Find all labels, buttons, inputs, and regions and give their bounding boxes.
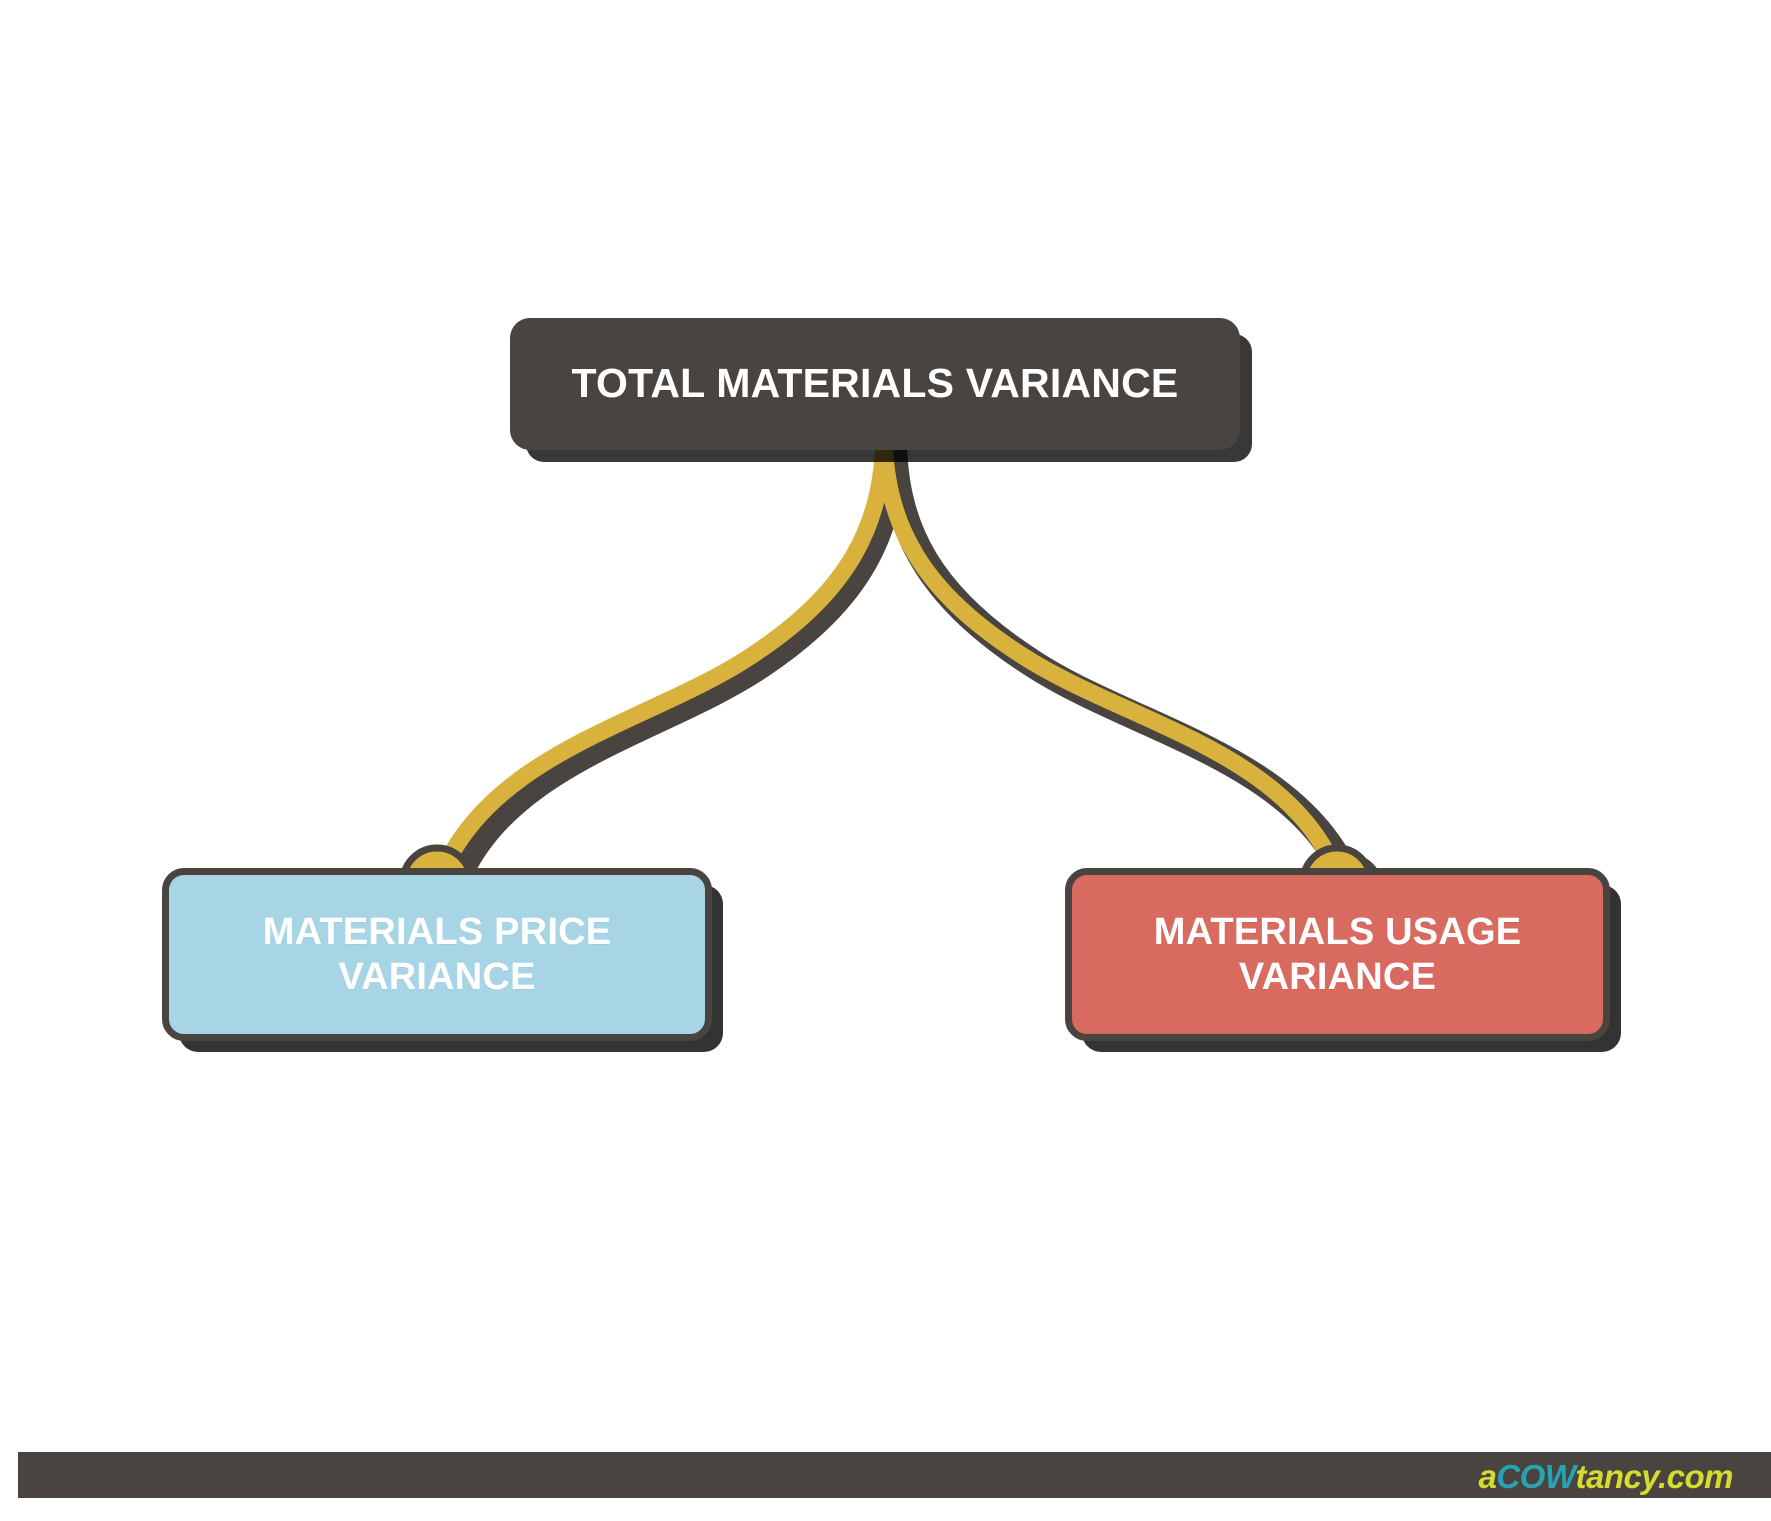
node-label-materials-price-variance: MATERIALS PRICE VARIANCE [169, 910, 705, 998]
brand-logo[interactable]: aCOWtancy.com [1478, 1458, 1733, 1496]
connector-outline-group [452, 437, 1352, 890]
connector-layer [0, 0, 1771, 1521]
brand-logo-part-rest: tancy.com [1575, 1458, 1733, 1495]
brand-logo-part-a: a [1478, 1458, 1496, 1495]
connector-line-left [438, 430, 884, 882]
connector-line-right [884, 430, 1340, 882]
diagram-canvas: TOTAL MATERIALS VARIANCE MATERIALS PRICE… [0, 0, 1771, 1521]
connector-outline-right [893, 437, 1352, 890]
brand-logo-part-cow: COW [1496, 1458, 1575, 1495]
node-materials-usage-variance[interactable]: MATERIALS USAGE VARIANCE [1065, 868, 1610, 1041]
node-label-materials-usage-variance: MATERIALS USAGE VARIANCE [1072, 910, 1603, 998]
connector-outline-left [452, 437, 893, 890]
connector-line-group [438, 430, 1340, 882]
node-total-materials-variance[interactable]: TOTAL MATERIALS VARIANCE [510, 318, 1240, 450]
node-label-root: TOTAL MATERIALS VARIANCE [546, 360, 1205, 408]
node-materials-price-variance[interactable]: MATERIALS PRICE VARIANCE [162, 868, 712, 1041]
